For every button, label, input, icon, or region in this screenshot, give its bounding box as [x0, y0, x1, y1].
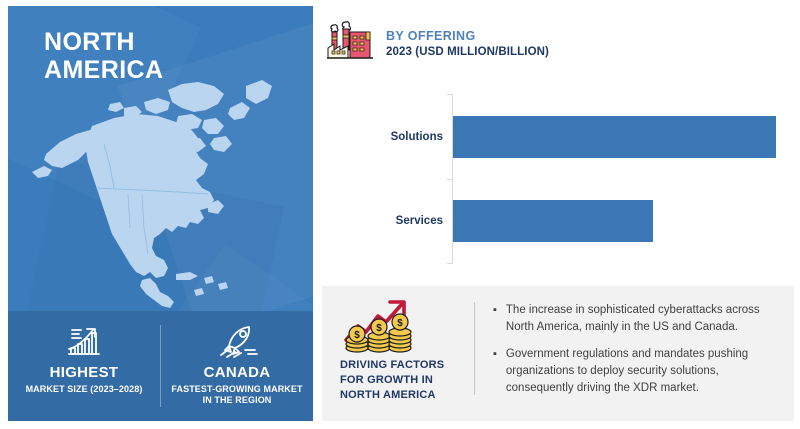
bar-series: Solutions Services [453, 94, 792, 264]
bar-solutions [453, 116, 776, 158]
svg-text:$: $ [397, 318, 403, 329]
driver-bullet-text: Government regulations and mandates push… [506, 346, 780, 396]
stat-canada-subtext: FASTEST-GROWING MARKET IN THE REGION [171, 384, 303, 407]
driver-bullet-text: The increase in sophisticated cyberattac… [506, 302, 780, 335]
factory-icon [326, 20, 374, 69]
chart-subtitle: 2023 (USD MILLION/BILLION) [386, 45, 549, 60]
bar-chart-growth-icon [63, 321, 105, 361]
drivers-title-line3: NORTH AMERICA [340, 388, 444, 403]
stat-highest: HIGHEST MARKET SIZE (2023–2028) [8, 311, 160, 421]
rocket-icon [215, 321, 259, 361]
north-america-map-icon [18, 68, 308, 313]
bar-label-solutions: Solutions [391, 131, 443, 143]
drivers-left: $ $ [322, 286, 474, 404]
chart-title: BY OFFERING [386, 29, 549, 45]
chart-panel: BY OFFERING 2023 (USD MILLION/BILLION) S… [322, 6, 794, 278]
bar-row: Services [453, 200, 653, 242]
stat-highest-subtext: MARKET SIZE (2023–2028) [26, 384, 143, 395]
axis-tick-bottom [447, 263, 452, 264]
bar-services [453, 200, 653, 242]
driver-bullet-item: ▪Government regulations and mandates pus… [493, 346, 780, 396]
bullet-marker-icon: ▪ [493, 347, 497, 396]
region-panel: NORTH AMERICA [8, 6, 313, 421]
bar-chart: Solutions Services [452, 94, 792, 264]
chart-header: BY OFFERING 2023 (USD MILLION/BILLION) [326, 20, 549, 69]
drivers-title-line2: FOR GROWTH IN [340, 373, 444, 388]
infographic-root: NORTH AMERICA [0, 0, 800, 429]
bar-label-services: Services [396, 215, 443, 227]
drivers-title-line1: DRIVING FACTORS [340, 358, 444, 373]
coins-growth-arrow-icon: $ $ [340, 296, 420, 354]
drivers-bullet-list: ▪The increase in sophisticated cyberatta… [475, 286, 794, 407]
stat-canada: CANADA FASTEST-GROWING MARKET IN THE REG… [161, 311, 313, 421]
drivers-panel: $ $ [322, 286, 794, 421]
svg-text:$: $ [354, 330, 360, 341]
region-footer: HIGHEST MARKET SIZE (2023–2028) CANADA [8, 311, 313, 421]
region-title-line1: NORTH [44, 28, 163, 56]
axis-tick-mid [447, 179, 452, 180]
bullet-marker-icon: ▪ [493, 303, 497, 335]
svg-text:$: $ [376, 323, 382, 334]
region-title: NORTH AMERICA [44, 28, 163, 84]
region-title-line2: AMERICA [44, 56, 163, 84]
chart-header-text: BY OFFERING 2023 (USD MILLION/BILLION) [386, 29, 549, 61]
drivers-title: DRIVING FACTORS FOR GROWTH IN NORTH AMER… [340, 358, 444, 404]
bar-row: Solutions [453, 116, 776, 158]
stat-highest-headline: HIGHEST [50, 364, 119, 381]
driver-bullet-item: ▪The increase in sophisticated cyberatta… [493, 302, 780, 335]
stat-canada-headline: CANADA [204, 364, 271, 381]
axis-tick-top [447, 94, 452, 95]
